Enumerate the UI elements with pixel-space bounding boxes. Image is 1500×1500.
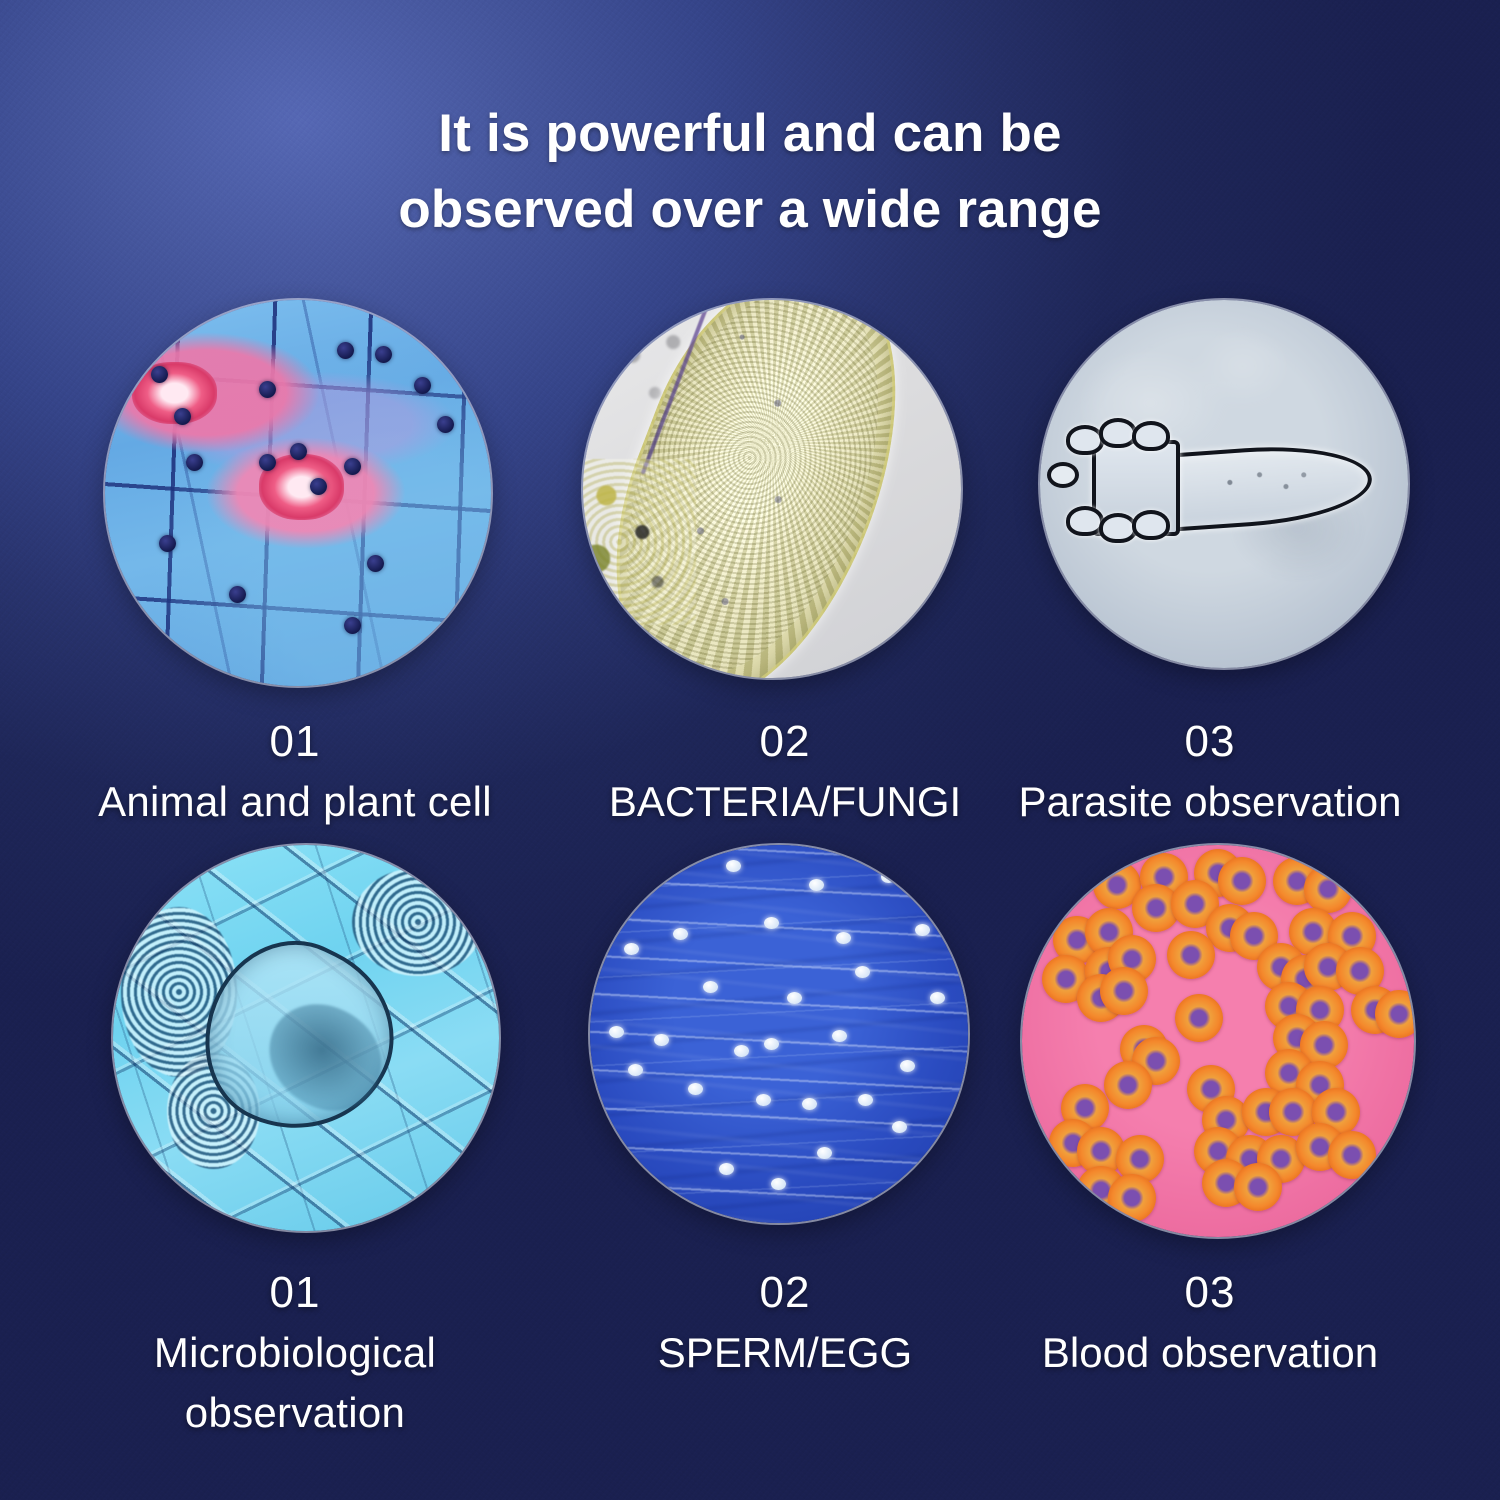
micrograph-wrap xyxy=(960,300,1460,720)
caption: 01 Microbiological observation xyxy=(45,1263,545,1443)
item-label: Blood observation xyxy=(960,1323,1460,1383)
micrograph-wrap xyxy=(45,845,545,1265)
plant-cell-micrograph xyxy=(105,300,491,686)
item-label: Animal and plant cell xyxy=(45,772,545,832)
microscope-feature-poster: It is powerful and can be observed over … xyxy=(0,0,1500,1500)
observation-item-microbiological-observation: 01 Microbiological observation xyxy=(45,845,545,1265)
paramecium-micrograph xyxy=(583,300,961,678)
item-label: Microbiological observation xyxy=(45,1323,545,1443)
item-number: 01 xyxy=(45,712,545,772)
item-label: Parasite observation xyxy=(960,772,1460,832)
micrograph-wrap xyxy=(960,845,1460,1265)
title-line-1: It is powerful and can be xyxy=(0,96,1500,172)
sperm-micrograph xyxy=(590,845,968,1223)
item-number: 03 xyxy=(960,712,1460,772)
blood-cells-micrograph xyxy=(1022,845,1414,1237)
observation-item-blood-observation: 03 Blood observation xyxy=(960,845,1460,1265)
item-number: 03 xyxy=(960,1263,1460,1323)
page-title: It is powerful and can be observed over … xyxy=(0,96,1500,248)
caption: 03 Parasite observation xyxy=(960,712,1460,832)
observation-item-parasite-observation: 03 Parasite observation xyxy=(960,300,1460,720)
title-line-2: observed over a wide range xyxy=(0,172,1500,248)
microorganism-micrograph xyxy=(113,845,499,1231)
caption: 01 Animal and plant cell xyxy=(45,712,545,832)
micrograph-wrap xyxy=(45,300,545,720)
caption: 03 Blood observation xyxy=(960,1263,1460,1383)
parasite-mite-micrograph xyxy=(1040,300,1408,668)
item-number: 01 xyxy=(45,1263,545,1323)
observation-item-animal-and-plant-cell: 01 Animal and plant cell xyxy=(45,300,545,720)
